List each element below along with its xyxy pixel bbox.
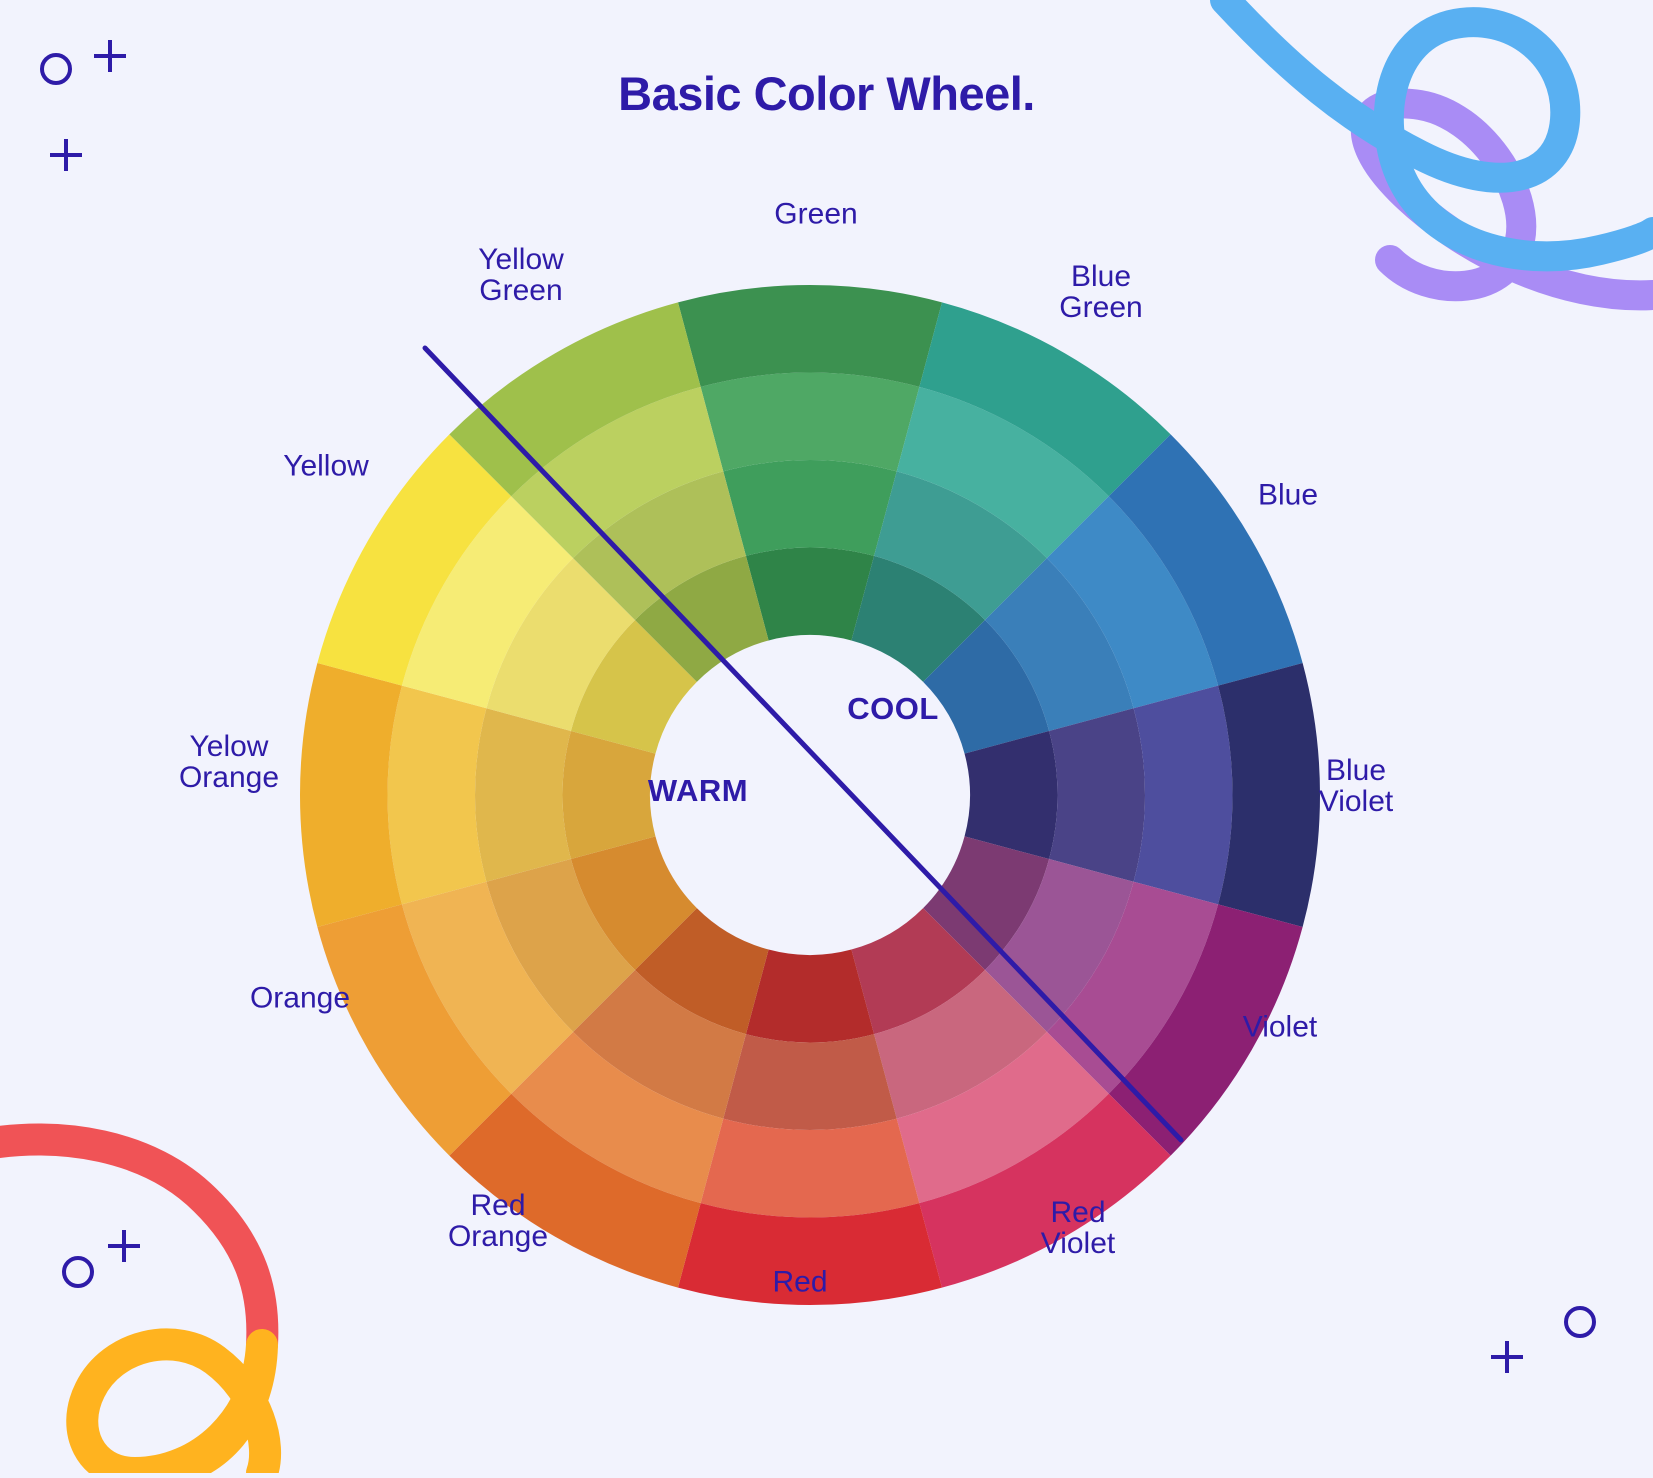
wheel-ring-cell[interactable]	[1218, 663, 1320, 927]
wheel-ring-cell[interactable]	[701, 373, 920, 472]
wheel-label-blue-violet: Blue Violet	[1319, 755, 1394, 817]
wheel-ring-cell[interactable]	[746, 548, 874, 641]
cool-label: COOL	[847, 691, 939, 727]
wheel-ring-cell[interactable]	[965, 731, 1058, 859]
wheel-label-blue: Blue	[1258, 479, 1318, 510]
wheel-ring-cell[interactable]	[300, 663, 402, 927]
wheel-ring-cell[interactable]	[1134, 686, 1233, 905]
wheel-ring-cell[interactable]	[723, 460, 896, 556]
wheel-ring-cell[interactable]	[388, 686, 487, 905]
wheel-ring-cell[interactable]	[746, 950, 874, 1043]
wheel-ring-cell[interactable]	[1049, 708, 1145, 881]
wheel-label-orange: Orange	[250, 982, 350, 1013]
warm-label: WARM	[648, 773, 748, 809]
wheel-label-red: Red	[772, 1266, 827, 1297]
wheel-label-red-violet: Red Violet	[1041, 1197, 1116, 1259]
wheel-ring-cell[interactable]	[723, 1034, 896, 1130]
wheel-ring-cell[interactable]	[678, 285, 942, 387]
wheel-label-blue-green: Blue Green	[1059, 261, 1142, 323]
wheel-ring-cell[interactable]	[701, 1119, 920, 1218]
wheel-ring-cell[interactable]	[475, 708, 571, 881]
wheel-ring-cell[interactable]	[563, 731, 656, 859]
wheel-label-violet: Violet	[1243, 1011, 1318, 1042]
wheel-label-red-orange: Red Orange	[448, 1190, 548, 1252]
wheel-label-yellow-green: Yellow Green	[478, 244, 564, 306]
wheel-label-yellow: Yellow	[283, 450, 369, 481]
poster-canvas: Basic Color Wheel. WARM COOL GreenBlue G…	[0, 0, 1653, 1473]
wheel-label-yelow-orange: Yelow Orange	[179, 731, 279, 793]
wheel-label-green: Green	[774, 198, 857, 229]
